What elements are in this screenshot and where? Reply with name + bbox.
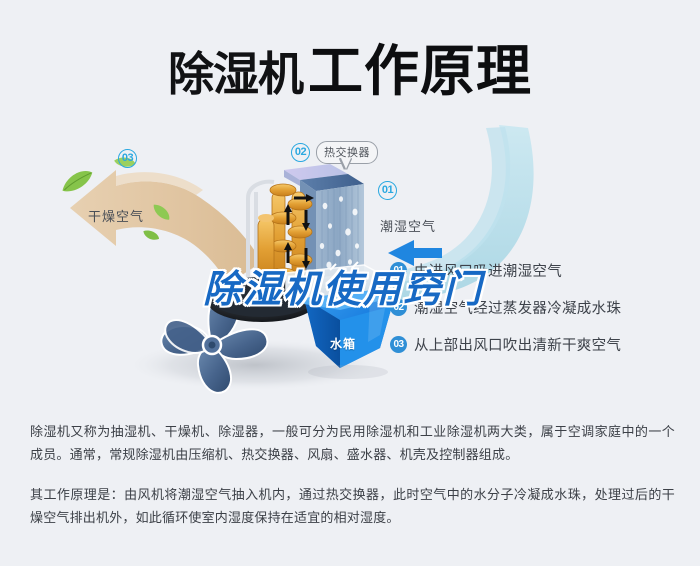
label-dry-air-text: 干燥空气 [88,206,144,226]
label-dry-air-number: 03 [118,148,137,168]
body-copy: 除湿机又称为抽湿机、干燥机、除湿器，一般可分为民用除湿机和工业除湿机两大类，属于… [30,420,675,529]
infographic-page: 除湿机工作原理 [0,0,700,566]
paragraph-one: 除湿机又称为抽湿机、干燥机、除湿器，一般可分为民用除湿机和工业除湿机两大类，属于… [30,420,675,466]
label-heat-exchanger-number: 02 [291,142,310,162]
page-title-part-two: 工作原理 [308,40,532,102]
paragraph-two: 其工作原理是：由风机将潮湿空气抽入机内，通过热交换器，此时空气中的水分子冷凝成水… [30,483,675,529]
heat-exchanger-number-badge: 02 [291,143,310,162]
label-humid-air-number: 01 [378,180,397,200]
watermark: 除湿机使用窍门 [203,258,483,313]
label-humid-air-text: 潮湿空气 [380,216,436,236]
step-badge: 03 [390,336,407,353]
list-item: 03 从上部出风口吹出清新干爽空气 [390,326,695,363]
label-water-tank: 水箱 [330,335,356,352]
step-text: 从上部出风口吹出清新干爽空气 [414,334,621,355]
dry-air-number-badge: 03 [118,149,137,168]
page-title: 除湿机工作原理 [0,26,700,106]
callout-pointer-icon [341,158,351,169]
page-title-part-one: 除湿机 [168,48,303,100]
humid-air-number-badge: 01 [378,181,397,200]
